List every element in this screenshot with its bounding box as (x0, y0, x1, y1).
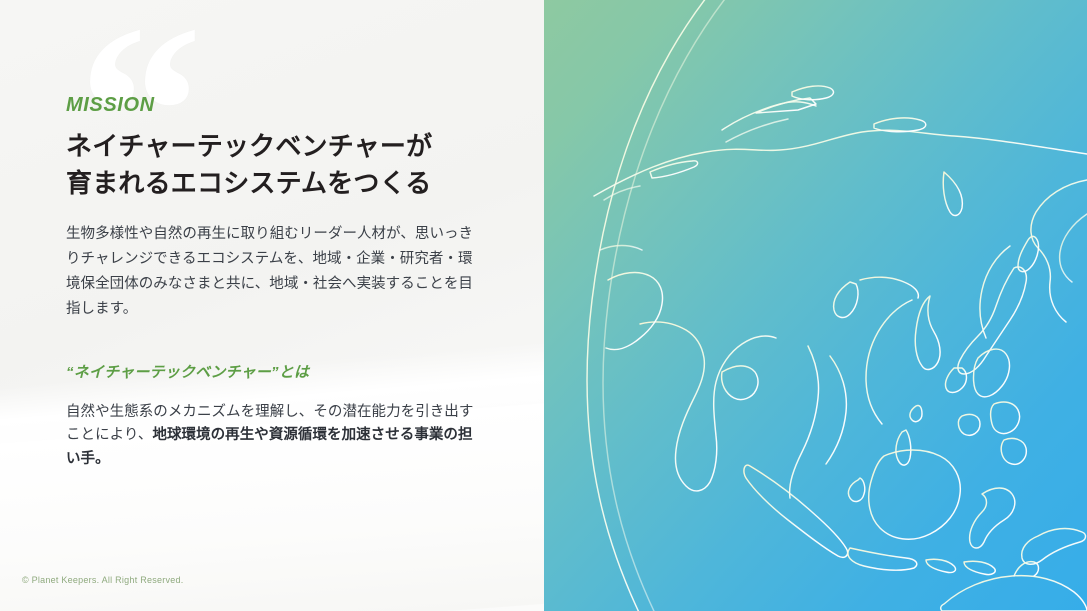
coast-lesser-sunda-b (964, 561, 995, 574)
section-eyebrow-mission: MISSION (66, 94, 155, 117)
coast-java (848, 548, 917, 570)
coast-australia (941, 576, 1087, 611)
globe-limb-arc-inner (603, 0, 860, 611)
coast-bohai-bay (834, 282, 858, 317)
coast-borneo (869, 450, 961, 539)
coast-arabia (606, 273, 663, 350)
coast-lesser-sunda-a (926, 559, 956, 572)
left-content-panel: “ MISSION ネイチャーテックベンチャーが育まれるエコシステムをつくる 生… (0, 0, 544, 611)
coast-taiwan (896, 430, 911, 465)
mission-slide: “ MISSION ネイチャーテックベンチャーが育まれるエコシステムをつくる 生… (0, 0, 1087, 611)
coast-kamchatka (1031, 180, 1087, 322)
globe-visual-panel (544, 0, 1087, 611)
coast-sulawesi (970, 488, 1015, 548)
coast-hainan (848, 478, 864, 501)
coast-kuril-arc (943, 172, 962, 215)
mission-lead-paragraph: 生物多様性や自然の再生に取り組むリーダー人材が、思いっきりチャレンジできるエコシ… (66, 222, 483, 322)
coast-japan-honshu (958, 267, 1026, 374)
coast-japan-hokkaido (1018, 236, 1039, 271)
globe-limb-arc (587, 0, 844, 611)
coast-caspian-rim (600, 246, 642, 251)
coast-korea (915, 296, 940, 369)
definition-subheading: “ネイチャーテックベンチャー”とは (66, 361, 309, 382)
coast-palawan (958, 414, 980, 435)
coast-visayas (991, 402, 1020, 434)
coast-sri-lanka (722, 366, 758, 400)
coast-bohai (860, 277, 918, 298)
coast-mindanao (1001, 438, 1026, 464)
coast-island-taimyr (874, 118, 926, 132)
coast-island-wrangel (792, 86, 833, 100)
coast-japan-kyushu (945, 368, 966, 393)
coast-new-guinea (1022, 529, 1086, 565)
coast-russia-far-east (980, 246, 1010, 338)
page-title: ネイチャーテックベンチャーが育まれるエコシステムをつくる (66, 128, 486, 202)
definition-text-part2: 。 (95, 451, 110, 467)
definition-paragraph: 自然や生態系のメカニズムを理解し、その潜在能力を引き出すことにより、地球環境の再… (66, 401, 483, 471)
coast-india (640, 322, 776, 491)
text-content-block: MISSION ネイチャーテックベンチャーが育まれるエコシステムをつくる 生物多… (66, 0, 496, 611)
coast-luzon (974, 349, 1010, 397)
coast-island-novaya-zemlya (722, 102, 816, 130)
coast-vietnam (826, 356, 846, 464)
coast-china-east (866, 300, 912, 424)
coast-indochina (790, 346, 819, 498)
globe-line-art-icon (544, 0, 1087, 611)
copyright-footer: © Planet Keepers. All Right Reserved. (22, 575, 183, 585)
coast-sumatra (744, 465, 848, 557)
coast-island-strip-c (650, 161, 698, 178)
coast-arctic-siberia (594, 130, 1087, 196)
coast-okhotsk-rim (1060, 214, 1087, 282)
coast-island-small-ryukyu (910, 405, 922, 421)
